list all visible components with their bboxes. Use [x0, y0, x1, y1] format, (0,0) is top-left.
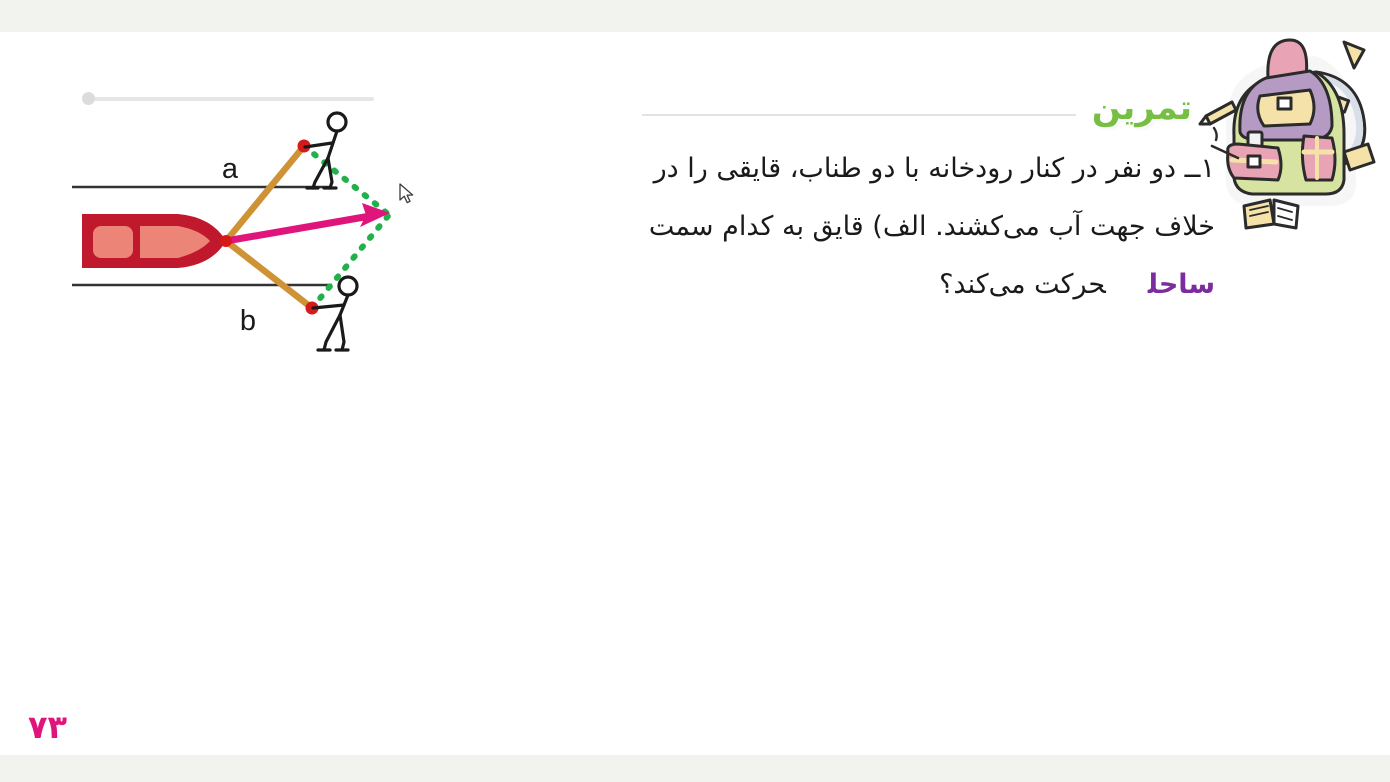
question-body: ۱ــ دو نفر در کنار رودخانه با دو طناب، ق…: [640, 140, 1215, 314]
open-book-icon: [1244, 200, 1298, 228]
rope-b: [226, 241, 312, 308]
stick-figure-top: [305, 113, 346, 188]
question-line-3: ساحلحرکت می‌کند؟: [640, 256, 1215, 314]
backpack-buckle-left: [1248, 156, 1260, 167]
diagram-label-b: b: [240, 305, 256, 337]
backpack-buckle-top: [1278, 98, 1291, 109]
bottom-chrome-bar: [0, 755, 1390, 782]
stick-figure-bottom: [313, 277, 357, 350]
top-chrome-bar: [0, 0, 1390, 32]
backpack-illustration: [1198, 28, 1390, 233]
diagram-label-a: a: [222, 153, 239, 185]
paper-scrap-top: [1344, 42, 1364, 68]
question-line-1: ۱ــ دو نفر در کنار رودخانه با دو طناب، ق…: [640, 140, 1215, 198]
question-line-2: خلاف جهت آب می‌کشند. الف) قایق به کدام س…: [640, 198, 1215, 256]
physics-diagram: a b: [60, 100, 420, 365]
sparkle-mark: [1214, 128, 1217, 140]
answer-label: ساحل: [1148, 269, 1215, 300]
rope-anchor-dot-boat: [220, 235, 232, 247]
boat-shape: [82, 214, 226, 268]
question-line-3-text: حرکت می‌کند؟: [939, 269, 1106, 300]
section-divider-rule: [642, 114, 1076, 116]
page-number: ۷۳: [28, 708, 67, 746]
section-title: تمرین: [1092, 88, 1192, 128]
